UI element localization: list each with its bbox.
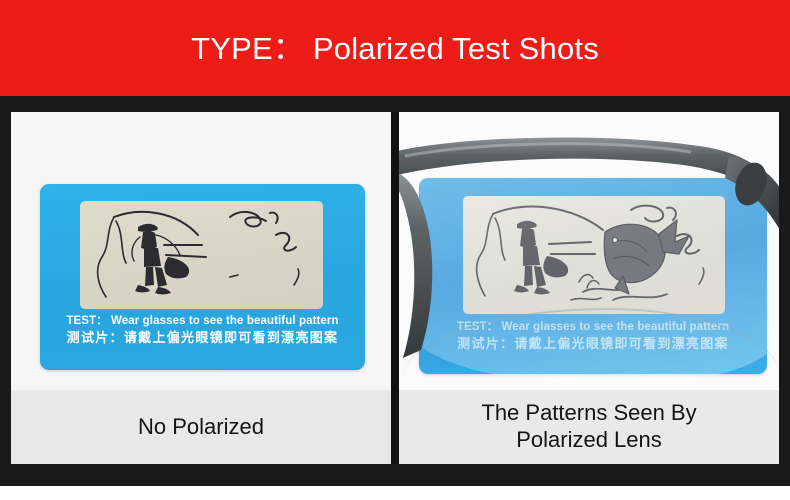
test-card-inner-panel [80, 201, 323, 309]
frame-band-left [0, 112, 11, 464]
caption-line: No Polarized [138, 414, 264, 441]
caption-line: Polarized Lens [516, 427, 662, 454]
panel-divider [391, 112, 399, 464]
frame-highlight [405, 144, 691, 156]
header-banner: TYPE： Polarized Test Shots [0, 0, 790, 96]
caption-polarized: The Patterns Seen By Polarized Lens [399, 390, 779, 464]
test-card-polarized: TEST： Wear glasses to see the beautiful … [419, 178, 767, 374]
polarized-test-comparison: TYPE： Polarized Test Shots [0, 0, 790, 500]
test-card-text-en-polarized: TEST： Wear glasses to see the beautiful … [419, 320, 767, 335]
test-card-text-cn: 测试片：请戴上偏光眼镜即可看到漂亮图案 [40, 329, 365, 346]
test-card-unpolarized: TEST： Wear glasses to see the beautiful … [40, 184, 365, 370]
caption-no-polarized: No Polarized [11, 390, 391, 464]
page-title: TYPE： Polarized Test Shots [191, 33, 599, 64]
test-card-caption-polarized: TEST： Wear glasses to see the beautiful … [419, 320, 767, 352]
test-card-text-en: TEST： Wear glasses to see the beautiful … [40, 314, 365, 329]
panel-polarized: TEST： Wear glasses to see the beautiful … [399, 112, 779, 464]
caption-line: The Patterns Seen By [481, 400, 696, 427]
frame-band-top [0, 96, 790, 112]
test-card-caption-unpolarized: TEST： Wear glasses to see the beautiful … [40, 314, 365, 346]
frame-band-bottom [0, 464, 790, 486]
fisherman-fish-illustration-revealed [463, 196, 725, 314]
photo-no-polarized: TEST： Wear glasses to see the beautiful … [11, 112, 391, 390]
fisherman-illustration-plain [80, 201, 323, 309]
photo-polarized: TEST： Wear glasses to see the beautiful … [399, 112, 779, 390]
panel-no-polarized: TEST： Wear glasses to see the beautiful … [11, 112, 391, 464]
frame-band-right [779, 112, 790, 464]
test-card-text-cn-polarized: 测试片：请戴上偏光眼镜即可看到漂亮图案 [419, 335, 767, 352]
test-card-inner-panel-polarized [463, 196, 725, 314]
